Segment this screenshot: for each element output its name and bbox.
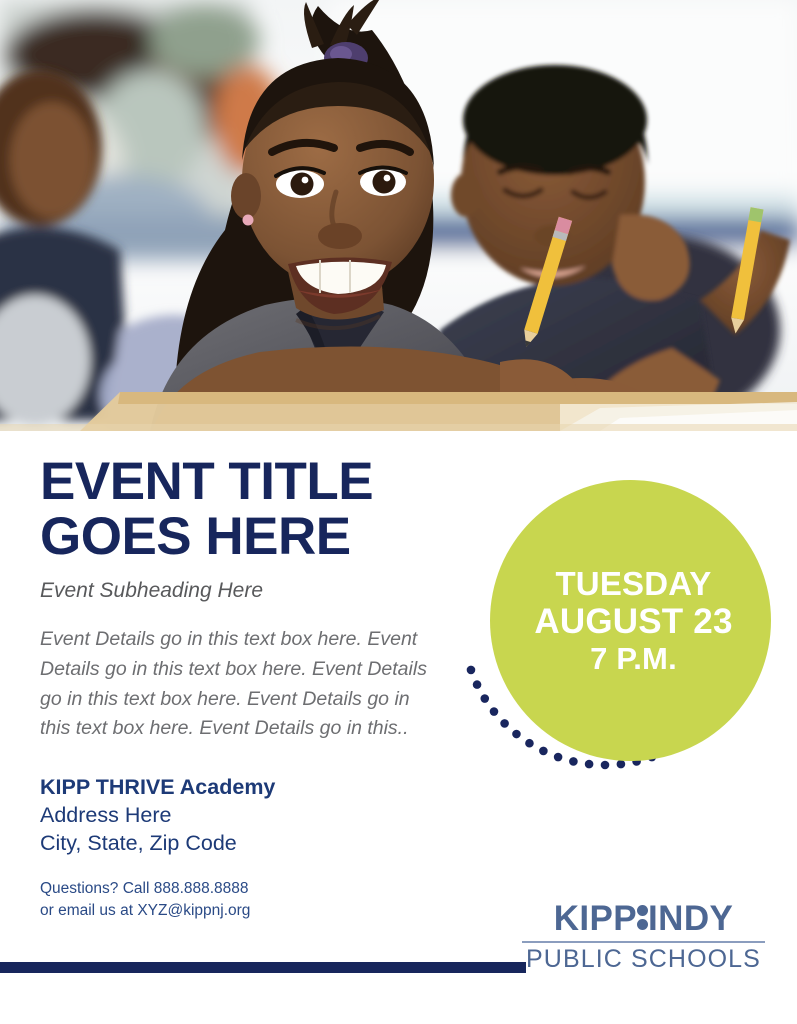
event-subheading: Event Subheading Here xyxy=(40,578,480,603)
contact-phone-line: Questions? Call 888.888.8888 xyxy=(40,878,480,900)
logo-region: INDY xyxy=(648,899,733,938)
venue-address: Address Here xyxy=(40,802,480,830)
contact-email-line: or email us at XYZ@kippnj.org xyxy=(40,900,480,922)
badge-day: TUESDAY xyxy=(534,565,732,602)
classroom-photo-illustration xyxy=(0,0,797,431)
badge-time: 7 P.M. xyxy=(534,641,732,676)
logo-divider xyxy=(522,941,765,943)
date-badge-text: TUESDAY AUGUST 23 7 P.M. xyxy=(528,565,732,677)
event-title-line-1: EVENT TITLE xyxy=(40,455,480,510)
page-title: EVENT TITLE GOES HERE xyxy=(40,455,480,564)
venue-name: KIPP THRIVE Academy xyxy=(40,774,480,802)
classroom-photo xyxy=(0,0,797,431)
contact-block: Questions? Call 888.888.8888 or email us… xyxy=(40,878,480,922)
logo-wordmark: KIPPINDY xyxy=(522,901,765,936)
date-badge-circle: TUESDAY AUGUST 23 7 P.M. xyxy=(490,480,771,761)
venue-city-state-zip: City, State, Zip Code xyxy=(40,830,480,858)
event-title-line-2: GOES HERE xyxy=(40,510,480,565)
event-flyer: EVENT TITLE GOES HERE Event Subheading H… xyxy=(0,0,797,1024)
footer-rule xyxy=(0,962,526,973)
logo-brand: KIPP xyxy=(554,899,637,938)
date-badge: TUESDAY AUGUST 23 7 P.M. xyxy=(462,468,782,788)
badge-date: AUGUST 23 xyxy=(534,602,732,642)
flyer-content: EVENT TITLE GOES HERE Event Subheading H… xyxy=(40,455,480,922)
logo-tagline: PUBLIC SCHOOLS xyxy=(522,947,765,972)
logo-colon-icon xyxy=(637,929,648,930)
venue-block: KIPP THRIVE Academy Address Here City, S… xyxy=(40,774,480,858)
event-details-text: Event Details go in this text box here. … xyxy=(40,625,440,744)
kipp-indy-logo: KIPPINDY PUBLIC SCHOOLS xyxy=(522,901,765,972)
